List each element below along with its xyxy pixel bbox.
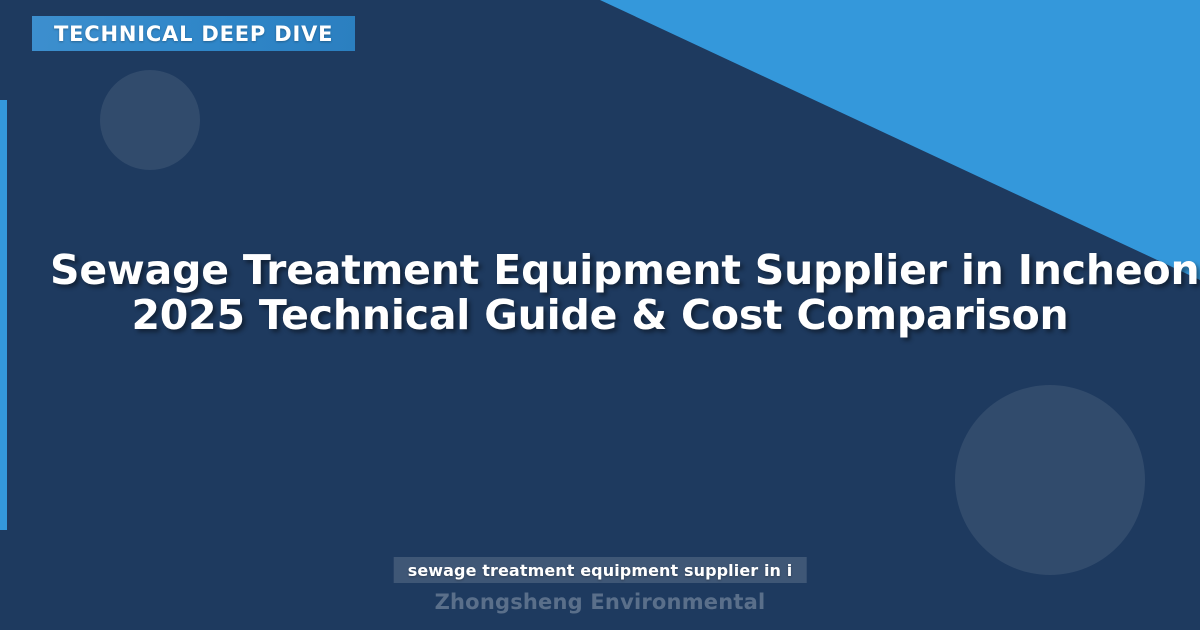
brand-name: Zhongsheng Environmental bbox=[0, 590, 1200, 614]
decorative-circle-top-left bbox=[100, 70, 200, 170]
page-title-line-1: Sewage Treatment Equipment Supplier in I… bbox=[50, 248, 1150, 293]
decorative-circle-bottom-right bbox=[955, 385, 1145, 575]
category-badge: TECHNICAL DEEP DIVE bbox=[32, 16, 355, 51]
keyword-tag: sewage treatment equipment supplier in i bbox=[394, 557, 807, 583]
page-title-line-2: 2025 Technical Guide & Cost Comparison bbox=[50, 293, 1150, 338]
page-title: Sewage Treatment Equipment Supplier in I… bbox=[0, 248, 1200, 338]
social-card-canvas: TECHNICAL DEEP DIVE Sewage Treatment Equ… bbox=[0, 0, 1200, 630]
